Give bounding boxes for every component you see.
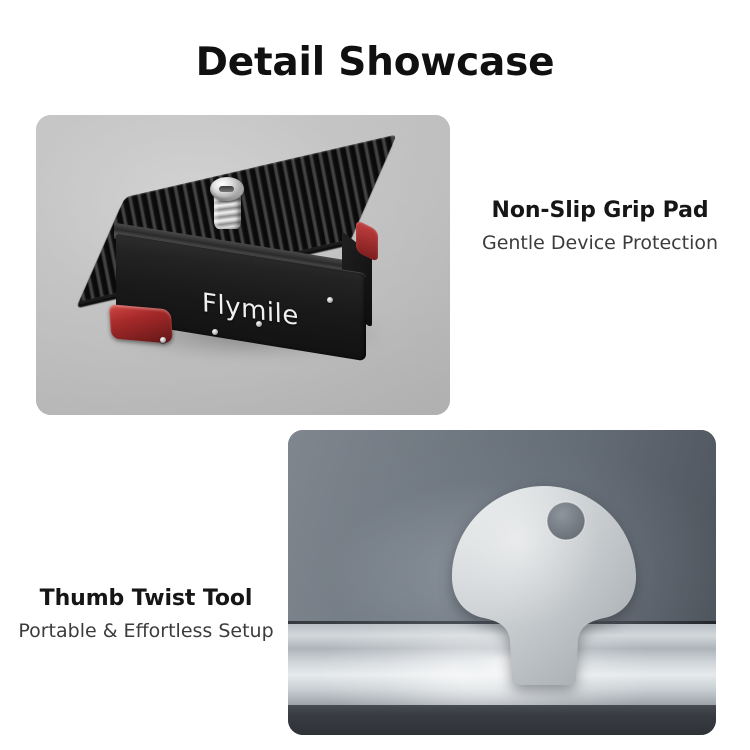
body-screw-dot bbox=[160, 337, 166, 343]
caption-title: Thumb Twist Tool bbox=[8, 586, 284, 611]
caption-thumb-tool: Thumb Twist Tool Portable & Effortless S… bbox=[8, 586, 284, 642]
screw-slot bbox=[219, 186, 234, 192]
tool-sheen bbox=[452, 486, 636, 685]
body-screw-dot bbox=[327, 297, 333, 303]
caption-grip-pad: Non-Slip Grip Pad Gentle Device Protecti… bbox=[462, 198, 738, 254]
caption-subtitle: Gentle Device Protection bbox=[462, 232, 738, 254]
body-screw-dot bbox=[256, 321, 262, 327]
screw-head bbox=[210, 177, 244, 201]
product-image-thumb-tool bbox=[288, 430, 716, 735]
page-title: Detail Showcase bbox=[0, 40, 750, 85]
body-screw-dot bbox=[212, 329, 218, 335]
quick-release-plate: Flymile bbox=[84, 157, 402, 372]
showcase-page: Detail Showcase Flymile bbox=[0, 0, 750, 750]
foreground-band bbox=[288, 705, 716, 736]
mounting-screw bbox=[210, 177, 244, 229]
caption-title: Non-Slip Grip Pad bbox=[462, 198, 738, 223]
caption-subtitle: Portable & Effortless Setup bbox=[8, 620, 284, 642]
product-image-grip-pad: Flymile bbox=[36, 115, 450, 415]
thumb-twist-tool bbox=[444, 482, 644, 687]
